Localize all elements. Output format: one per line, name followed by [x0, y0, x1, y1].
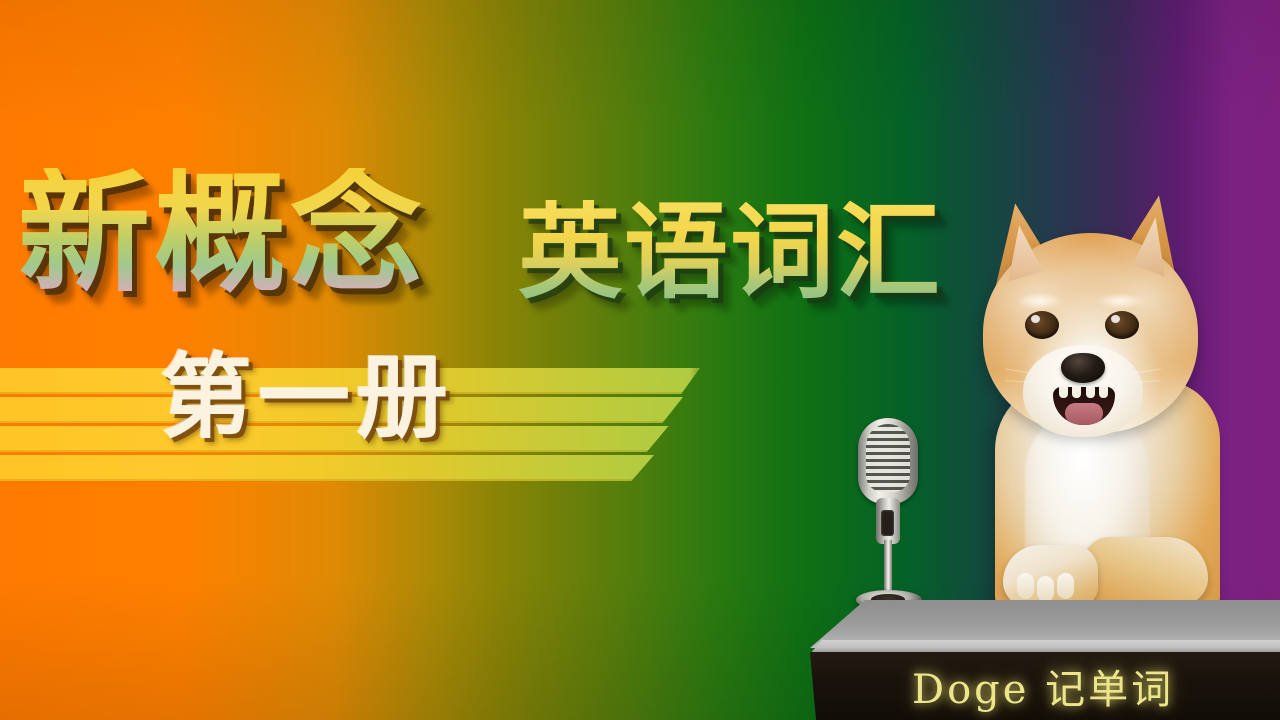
doge-eye-right — [1105, 311, 1139, 339]
doge-toe — [1037, 576, 1054, 602]
doge-tooth — [1059, 387, 1068, 398]
banner-stripe — [0, 455, 666, 481]
podium-desk-edge — [810, 640, 1280, 654]
doge-toe — [1017, 573, 1034, 599]
doge-tooth — [1072, 387, 1081, 398]
doge-brow-left — [1017, 293, 1063, 309]
doge-eye-glint — [1031, 315, 1040, 323]
doge-eye-glint — [1111, 315, 1120, 323]
doge-eye-left — [1025, 311, 1059, 339]
microphone-icon — [838, 418, 948, 618]
microphone-grille — [866, 424, 910, 492]
doge-tongue — [1065, 403, 1103, 425]
doge-nose — [1061, 353, 1105, 383]
microphone-head — [858, 418, 918, 504]
banner-label: 第一册 — [160, 352, 454, 444]
microphone-switch — [881, 510, 894, 536]
doge-toe — [1057, 573, 1074, 599]
doge-paw-right — [1083, 537, 1208, 605]
video-thumbnail: 新概念 英语词汇 第一册 — [0, 0, 1280, 720]
doge-brow-right — [1097, 293, 1143, 309]
doge-tooth — [1099, 387, 1108, 398]
channel-logo: Doge 记单词 — [912, 655, 1252, 717]
doge-shiba-inu-icon — [965, 195, 1240, 615]
doge-tooth — [1086, 387, 1095, 398]
